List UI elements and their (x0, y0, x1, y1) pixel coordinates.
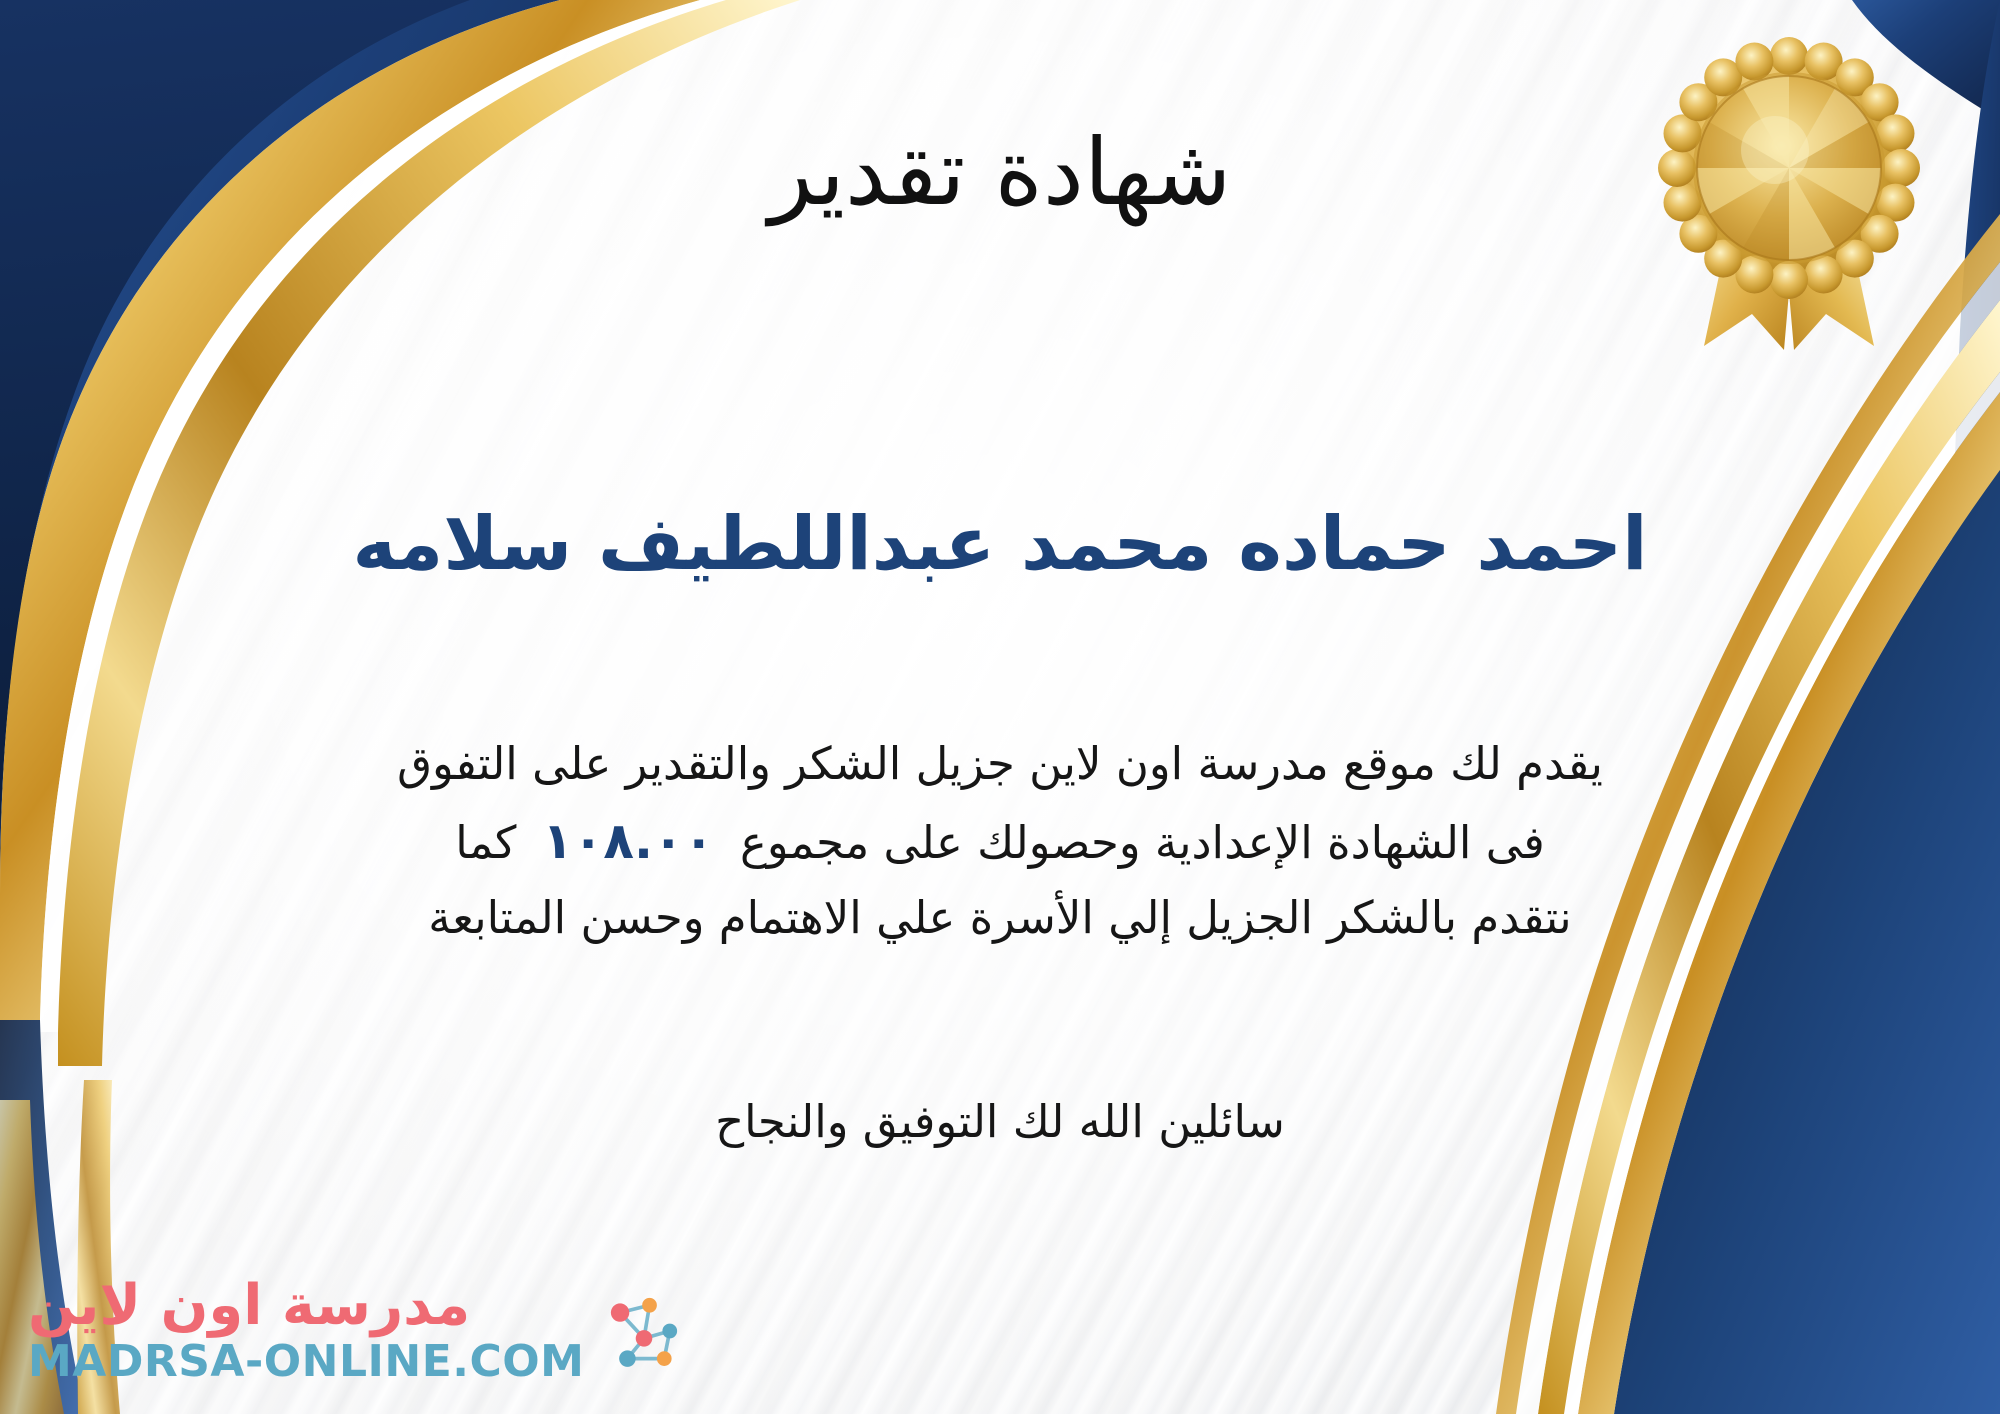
certificate-canvas: شهادة تقدير احمد حماده محمد عبداللطيف سل… (0, 0, 2000, 1414)
recipient-name: احمد حماده محمد عبداللطيف سلامه (0, 500, 2000, 589)
body-line-2: فى الشهادة الإعدادية وحصولك على مجموع١٠٨… (60, 801, 1940, 882)
body-line-2-prefix: فى الشهادة الإعدادية وحصولك على مجموع (740, 816, 1545, 869)
gold-award-seal-icon (1634, 28, 1944, 358)
brand-text: مدرسة اون لاين MADRSA-ONLINE.COM (28, 1277, 584, 1386)
body-line-1: يقدم لك موقع مدرسة اون لاين جزيل الشكر و… (60, 728, 1940, 801)
brand-watermark[interactable]: مدرسة اون لاين MADRSA-ONLINE.COM (28, 1277, 690, 1386)
network-nodes-icon (598, 1285, 690, 1377)
brand-url: MADRSA-ONLINE.COM (28, 1338, 584, 1386)
closing-line: سائلين الله لك التوفيق والنجاح (0, 1088, 2000, 1156)
certificate-body: يقدم لك موقع مدرسة اون لاين جزيل الشكر و… (60, 728, 1940, 955)
body-line-2-suffix: كما (455, 816, 516, 869)
brand-arabic-name: مدرسة اون لاين (28, 1277, 470, 1336)
body-line-3: نتقدم بالشكر الجزيل إلي الأسرة علي الاهت… (60, 882, 1940, 955)
score-value: ١٠٨.٠٠ (516, 812, 740, 870)
